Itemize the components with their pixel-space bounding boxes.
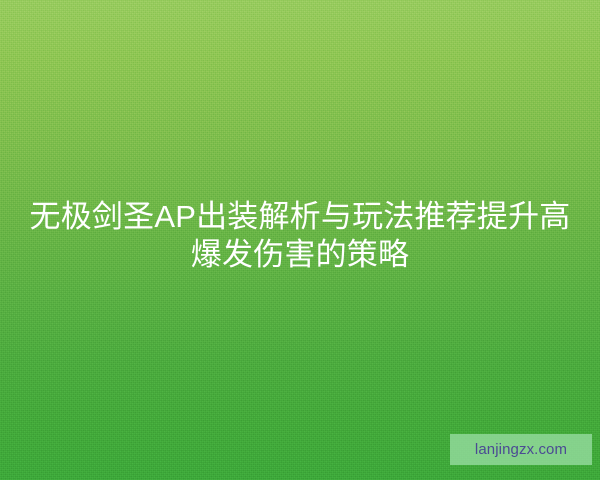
watermark-label: lanjingzx.com bbox=[475, 442, 567, 457]
poster-image: 无极剑圣AP出装解析与玩法推荐提升高爆发伤害的策略 lanjingzx.com bbox=[0, 0, 600, 480]
watermark-badge: lanjingzx.com bbox=[450, 434, 592, 465]
page-title: 无极剑圣AP出装解析与玩法推荐提升高爆发伤害的策略 bbox=[0, 198, 600, 274]
